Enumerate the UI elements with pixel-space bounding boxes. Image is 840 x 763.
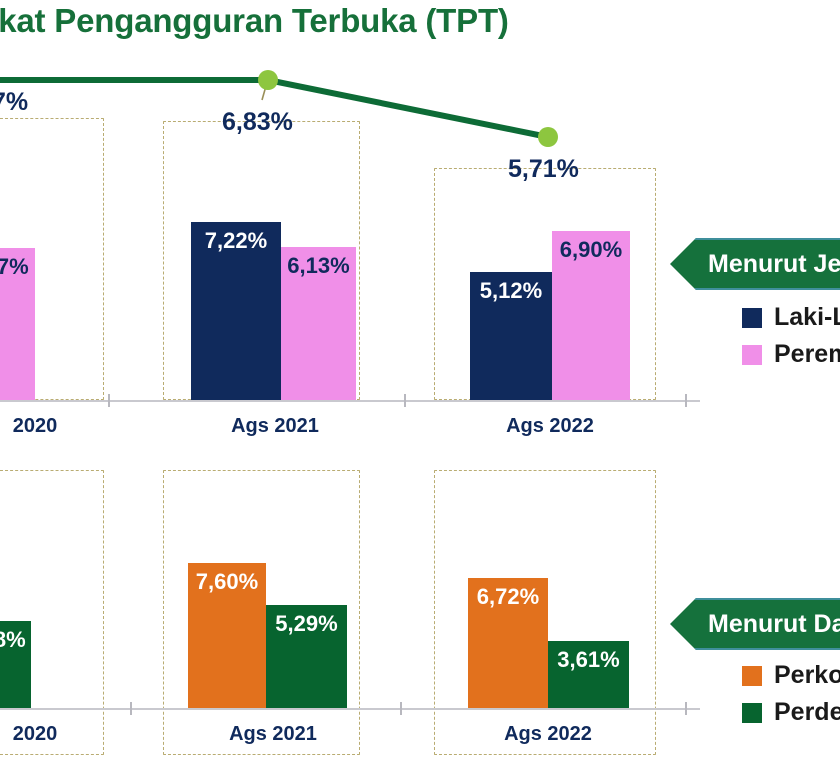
tick-top-1 (108, 394, 110, 407)
bar-perempuan-2020[interactable]: 6,17% (0, 248, 35, 400)
bar-perkotaan-2021-label: 7,60% (188, 571, 266, 593)
line-marker-1[interactable] (258, 70, 278, 90)
legend-item-laki-laki[interactable]: Laki-Laki (742, 305, 840, 330)
banner-1: Menurut Jenis Kelamin (670, 238, 840, 290)
line-value-label-1: 7% (0, 88, 28, 117)
line-marker-2[interactable] (538, 127, 558, 147)
tpt-total-line (0, 0, 700, 200)
x-label-bottom-1: 2020 (0, 723, 90, 746)
tick-bottom-1 (130, 702, 132, 715)
tick-top-2 (404, 394, 406, 407)
bar-laki-2022-label: 5,12% (470, 280, 552, 302)
bar-perempuan-2022-label: 6,90% (552, 239, 630, 261)
bar-perempuan-2020-label: 6,17% (0, 256, 35, 278)
legend-1: Laki-LakiPerempuan (742, 305, 840, 379)
legend-swatch-1 (742, 308, 762, 328)
x-axis-top (0, 400, 700, 402)
tick-top-3 (685, 394, 687, 407)
bar-perdesaan-2020-label: 4,58% (0, 629, 31, 651)
banner-2: Menurut Daerah (670, 598, 840, 650)
legend-item-perkotaan[interactable]: Perkotaan (742, 663, 840, 688)
tick-bottom-3 (685, 702, 687, 715)
legend-label-2: Perempuan (774, 342, 840, 367)
line-value-label-2: 6,83% (222, 108, 293, 137)
bar-perdesaan-2022[interactable]: 3,61% (548, 641, 629, 708)
bar-perempuan-2022[interactable]: 6,90% (552, 231, 630, 400)
bar-perkotaan-2022-label: 6,72% (468, 586, 548, 608)
x-label-top-2: Ags 2021 (210, 415, 340, 438)
x-label-bottom-3: Ags 2022 (483, 723, 613, 746)
legend-item-perdesaan[interactable]: Perdesaan (742, 700, 840, 725)
group-box-bottom-1 (0, 470, 104, 755)
bar-perdesaan-2022-label: 3,61% (548, 649, 629, 671)
legend-swatch-2 (742, 703, 762, 723)
bar-perkotaan-2022[interactable]: 6,72% (468, 578, 548, 708)
bar-perdesaan-2021-label: 5,29% (266, 613, 347, 635)
bar-perdesaan-2021[interactable]: 5,29% (266, 605, 347, 708)
bar-laki-2021-label: 7,22% (191, 230, 281, 252)
legend-item-perempuan[interactable]: Perempuan (742, 342, 840, 367)
bar-perempuan-2021-label: 6,13% (281, 255, 356, 277)
bar-laki-2022[interactable]: 5,12% (470, 272, 552, 400)
infographic-canvas: Tingkat Pengangguran Terbuka (TPT) Menur… (0, 0, 840, 763)
bar-perkotaan-2021[interactable]: 7,60% (188, 563, 266, 708)
legend-swatch-2 (742, 345, 762, 365)
legend-label-1: Laki-Laki (774, 305, 840, 330)
bar-laki-2021[interactable]: 7,22% (191, 222, 281, 400)
legend-2: PerkotaanPerdesaan (742, 663, 840, 737)
x-label-top-3: Ags 2022 (485, 415, 615, 438)
legend-swatch-1 (742, 666, 762, 686)
bar-perempuan-2021[interactable]: 6,13% (281, 247, 356, 400)
legend-label-1: Perkotaan (774, 663, 840, 688)
x-label-top-1: 2020 (0, 415, 90, 438)
line-value-label-3: 5,71% (508, 155, 579, 184)
x-axis-bottom (0, 708, 700, 710)
legend-label-2: Perdesaan (774, 700, 840, 725)
bar-perdesaan-2020[interactable]: 4,58% (0, 621, 31, 708)
tick-bottom-2 (400, 702, 402, 715)
x-label-bottom-2: Ags 2021 (208, 723, 338, 746)
